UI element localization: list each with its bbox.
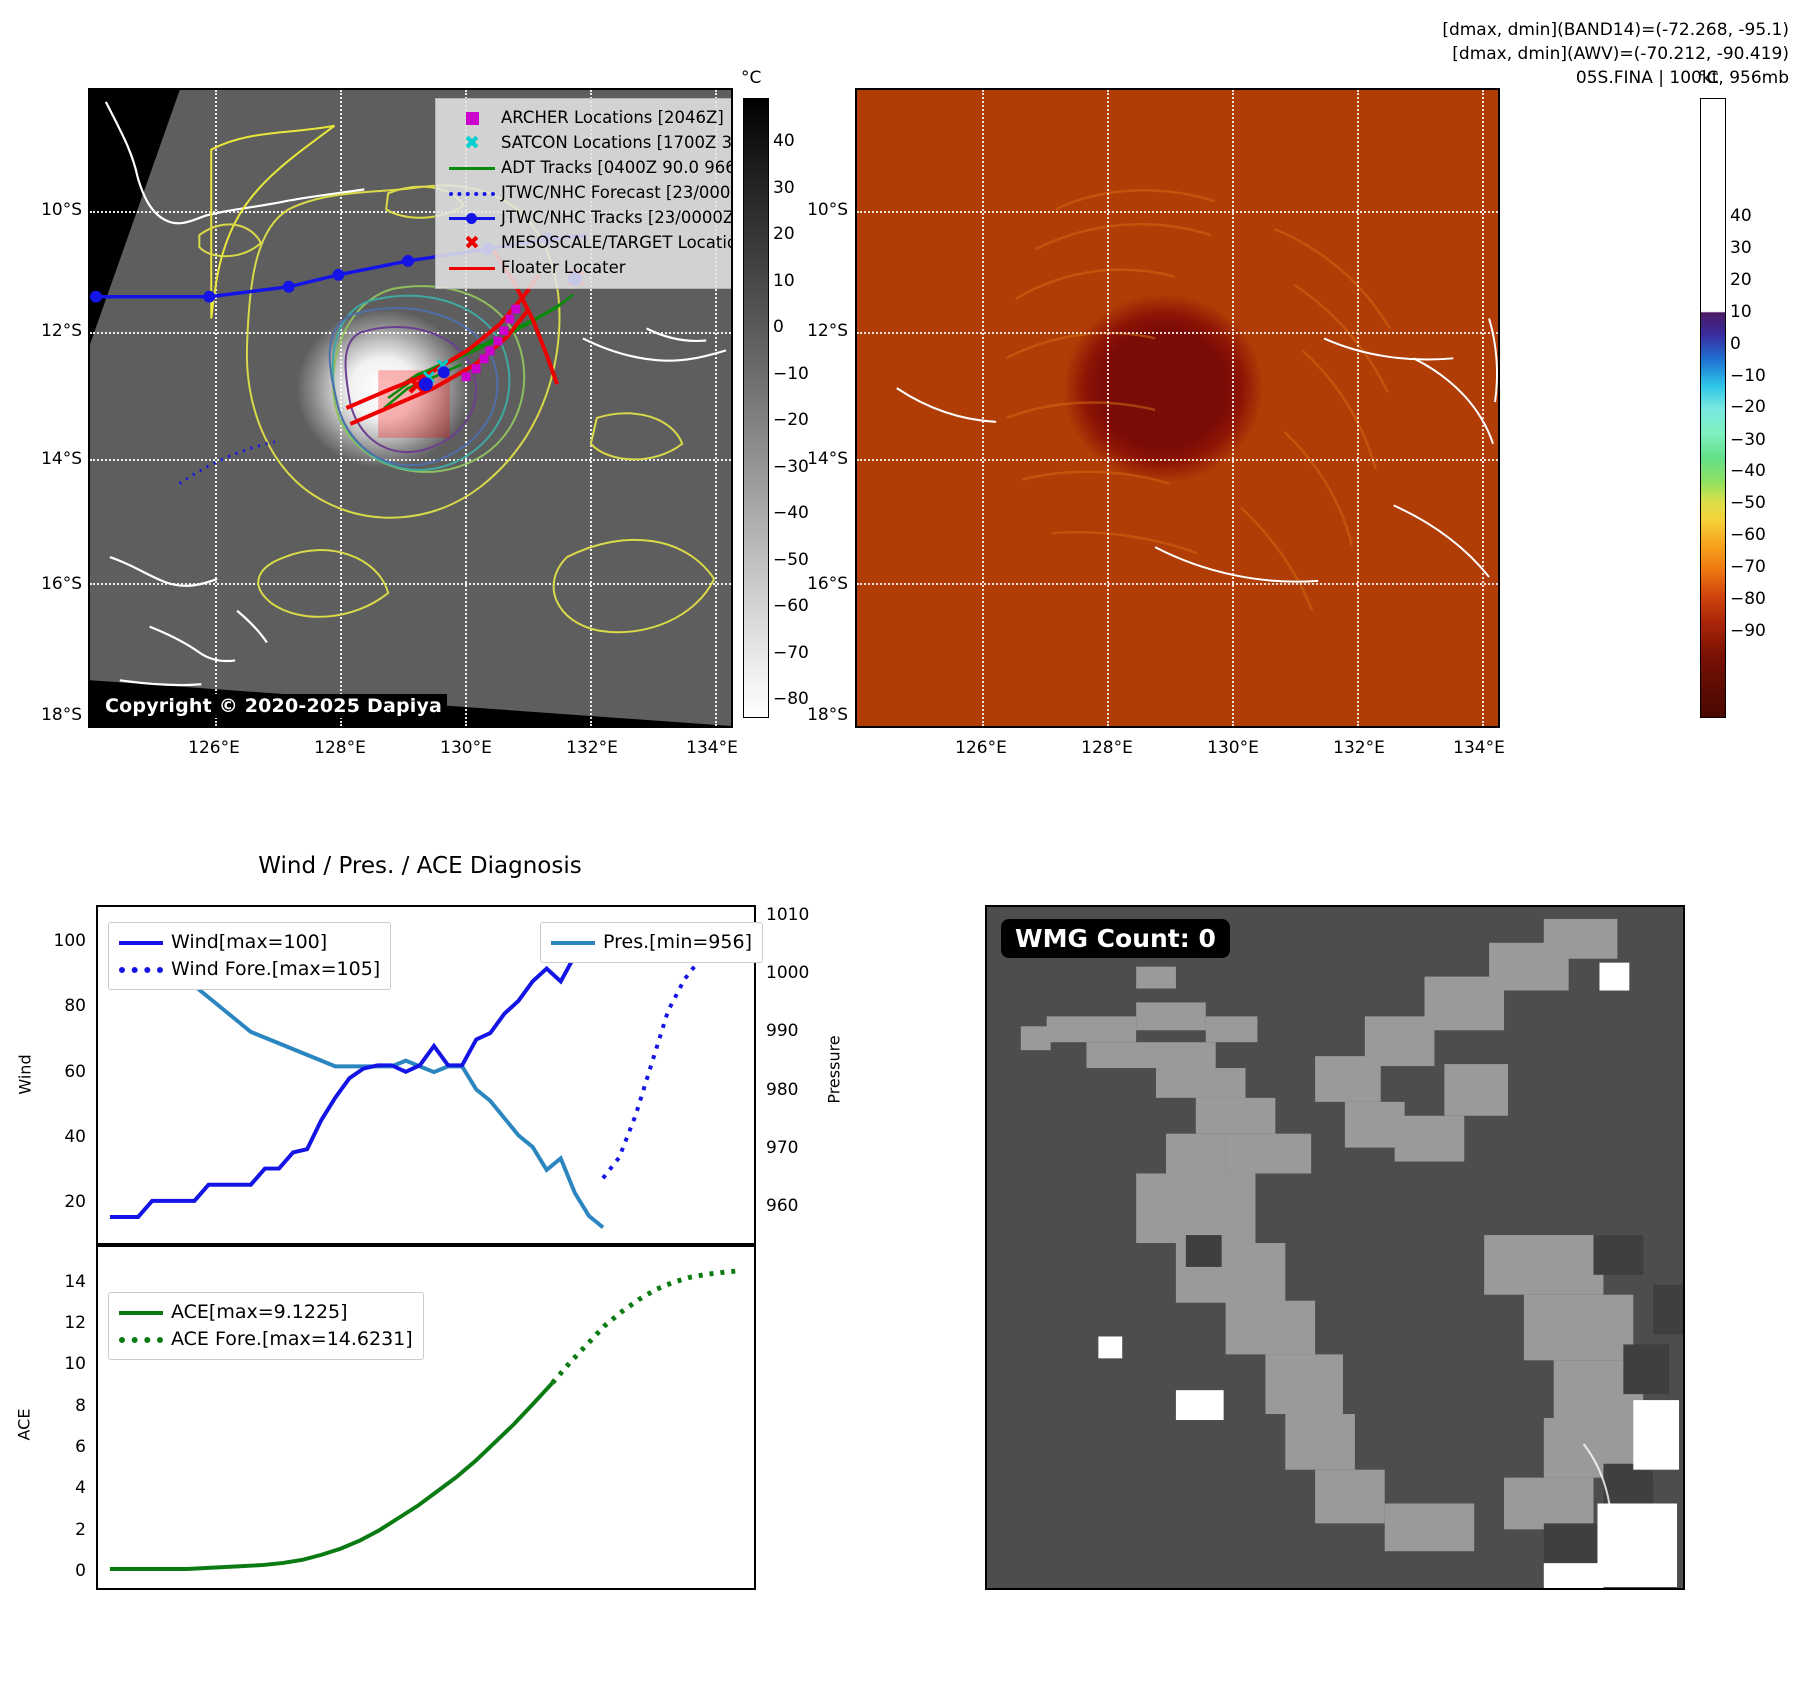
legend-item: ✖ MESOSCALE/TARGET Location xyxy=(443,231,733,256)
legend-label: Floater Locater xyxy=(501,260,626,277)
wmg-count-badge: WMG Count: 0 xyxy=(1001,919,1230,958)
ace-legend: ACE[max=9.1225] ACE Fore.[max=14.6231] xyxy=(108,1292,424,1360)
legend-item: Wind[max=100] xyxy=(119,929,380,956)
legend-item: Pres.[min=956] xyxy=(551,929,752,956)
floater-line-icon xyxy=(443,267,501,270)
jtwc-track-line-marker-icon xyxy=(443,217,501,220)
awv-colorbar-tick: −20 xyxy=(1730,397,1766,417)
wind-tick: 100 xyxy=(40,931,86,951)
legend-item: ACE Fore.[max=14.6231] xyxy=(119,1326,413,1353)
ir-lon-tick: 134°E xyxy=(686,738,738,758)
ace-tick: 10 xyxy=(44,1354,86,1374)
ir-colorbar-tick: −40 xyxy=(773,503,809,523)
legend-label: Pres.[min=956] xyxy=(603,929,752,957)
copyright-text: Copyright © 2020-2025 Dapiya xyxy=(100,694,447,718)
legend-label: ACE[max=9.1225] xyxy=(171,1299,348,1327)
awv-lat-tick: 18°S xyxy=(786,705,848,725)
awv-grid-line xyxy=(857,211,1498,213)
legend-item: ARCHER Locations [2046Z] xyxy=(443,106,733,131)
jtwc-forecast-dotted-icon xyxy=(443,192,501,196)
ace-tick: 0 xyxy=(44,1561,86,1581)
ace-tick: 8 xyxy=(44,1396,86,1416)
mesoscale-x-icon: ✖ xyxy=(443,234,501,253)
ir-colorbar-tick: −20 xyxy=(773,410,809,430)
ace-tick: 6 xyxy=(44,1437,86,1457)
ir-lat-tick: 12°S xyxy=(20,321,82,341)
ir-colorbar-tick: 20 xyxy=(773,224,795,244)
awv-colorbar-tick: 30 xyxy=(1730,238,1752,258)
ace-tick: 14 xyxy=(44,1272,86,1292)
ace-axis-label: ACE xyxy=(14,1409,33,1441)
wind-tick: 80 xyxy=(40,996,86,1016)
legend-label: ACE Fore.[max=14.6231] xyxy=(171,1326,413,1354)
legend-label: JTWC/NHC Forecast [23/0000Z] xyxy=(501,185,733,202)
awv-colorbar-tick: 0 xyxy=(1730,334,1741,354)
wind-line-icon xyxy=(119,941,171,945)
dmax-band14-text: [dmax, dmin](BAND14)=(-72.268, -95.1) xyxy=(1442,18,1789,42)
ir-lon-tick: 132°E xyxy=(566,738,618,758)
awv-grid-line xyxy=(1482,90,1484,726)
ir-lat-tick: 18°S xyxy=(20,705,82,725)
awv-colorbar-tick: 20 xyxy=(1730,270,1752,290)
storm-summary-text: 05S.FINA | 100kt, 956mb xyxy=(1442,66,1789,90)
wind-tick: 20 xyxy=(40,1192,86,1212)
awv-lon-tick: 130°E xyxy=(1207,738,1259,758)
pressure-axis-label: Pressure xyxy=(825,1035,844,1103)
awv-grid-line xyxy=(857,583,1498,585)
awv-colorbar-tick: 10 xyxy=(1730,302,1752,322)
adt-line-icon xyxy=(443,167,501,170)
legend-item: JTWC/NHC Tracks [23/0000Z] xyxy=(443,206,733,231)
awv-colorbar-tick: −40 xyxy=(1730,461,1766,481)
ace-tick: 4 xyxy=(44,1478,86,1498)
ace-forecast-dotted-icon xyxy=(119,1337,171,1343)
ir-colorbar-tick: −10 xyxy=(773,364,809,384)
wmg-mask-map xyxy=(987,907,1683,1588)
legend-item: Floater Locater xyxy=(443,256,733,281)
awv-colorbar-tick: −70 xyxy=(1730,557,1766,577)
ir-colorbar-tick: 30 xyxy=(773,178,795,198)
awv-grid-line xyxy=(857,332,1498,334)
legend-label: Wind Fore.[max=105] xyxy=(171,956,380,984)
awv-grid-line xyxy=(1357,90,1359,726)
awv-lon-tick: 134°E xyxy=(1453,738,1505,758)
ir-lat-tick: 16°S xyxy=(20,574,82,594)
awv-colorbar-tick: −90 xyxy=(1730,621,1766,641)
legend-item: JTWC/NHC Forecast [23/0000Z] xyxy=(443,181,733,206)
awv-grid-line xyxy=(1232,90,1234,726)
pressure-legend: Pres.[min=956] xyxy=(540,922,763,963)
ir-lat-tick: 10°S xyxy=(20,200,82,220)
legend-label: MESOSCALE/TARGET Location xyxy=(501,235,733,252)
awv-colorbar-tick: 40 xyxy=(1730,206,1752,226)
awv-colorbar-unit: °C xyxy=(1698,68,1718,88)
awv-lat-tick: 14°S xyxy=(786,449,848,469)
ir-colorbar-gradient xyxy=(743,98,769,718)
wmg-panel[interactable]: WMG Count: 0 xyxy=(985,905,1685,1590)
awv-colorbar-gradient xyxy=(1700,98,1726,718)
awv-lat-tick: 12°S xyxy=(786,321,848,341)
pressure-tick: 1000 xyxy=(766,963,809,983)
ir-colorbar-tick: −60 xyxy=(773,596,809,616)
ir-satellite-panel[interactable]: ARCHER Locations [2046Z] ✖ SATCON Locati… xyxy=(88,88,733,728)
ace-tick: 2 xyxy=(44,1520,86,1540)
ir-legend: ARCHER Locations [2046Z] ✖ SATCON Locati… xyxy=(435,98,733,289)
wind-forecast-dotted-icon xyxy=(119,967,171,973)
ir-colorbar-tick: 40 xyxy=(773,131,795,151)
legend-label: ARCHER Locations [2046Z] xyxy=(501,110,724,127)
ir-colorbar: °C 40 30 20 10 0 −10 −20 −30 −40 −50 −60… xyxy=(743,98,803,718)
pressure-tick: 990 xyxy=(766,1021,798,1041)
awv-lon-tick: 126°E xyxy=(955,738,1007,758)
awv-satellite-panel[interactable] xyxy=(855,88,1500,728)
awv-colorbar-tick: −10 xyxy=(1730,366,1766,386)
pressure-tick: 970 xyxy=(766,1138,798,1158)
wind-axis-label: Wind xyxy=(16,1054,35,1094)
legend-item: ✖ SATCON Locations [1700Z 38 1000] xyxy=(443,131,733,156)
archer-square-icon xyxy=(443,112,501,125)
ir-lon-tick: 128°E xyxy=(314,738,366,758)
awv-lon-tick: 128°E xyxy=(1081,738,1133,758)
pressure-tick: 960 xyxy=(766,1196,798,1216)
awv-colorbar-tick: −50 xyxy=(1730,493,1766,513)
metadata-block: [dmax, dmin](BAND14)=(-72.268, -95.1) [d… xyxy=(1442,18,1789,90)
legend-item: Wind Fore.[max=105] xyxy=(119,956,380,983)
ir-colorbar-tick: −70 xyxy=(773,643,809,663)
legend-item: ADT Tracks [0400Z 90.0 966.0] xyxy=(443,156,733,181)
awv-colorbar-tick: −30 xyxy=(1730,430,1766,450)
ace-line-icon xyxy=(119,1311,171,1315)
wind-tick: 60 xyxy=(40,1062,86,1082)
awv-colorbar-tick: −60 xyxy=(1730,525,1766,545)
awv-grid-line xyxy=(1107,90,1109,726)
satcon-x-icon: ✖ xyxy=(443,134,501,153)
awv-texture xyxy=(857,90,1498,726)
awv-colorbar: °C 40 30 20 10 0 −10 −20 −30 −40 −50 −60… xyxy=(1700,98,1760,718)
dmax-awv-text: [dmax, dmin](AWV)=(-70.212, -90.419) xyxy=(1442,42,1789,66)
ir-colorbar-unit: °C xyxy=(741,68,761,88)
pressure-line-icon xyxy=(551,941,603,945)
ir-lon-tick: 126°E xyxy=(188,738,240,758)
awv-lat-tick: 10°S xyxy=(786,200,848,220)
legend-label: Wind[max=100] xyxy=(171,929,327,957)
awv-lon-tick: 132°E xyxy=(1333,738,1385,758)
ir-lat-tick: 14°S xyxy=(20,449,82,469)
awv-grid-line xyxy=(982,90,984,726)
legend-label: JTWC/NHC Tracks [23/0000Z] xyxy=(501,210,733,227)
legend-item: ACE[max=9.1225] xyxy=(119,1299,413,1326)
legend-label: ADT Tracks [0400Z 90.0 966.0] xyxy=(501,160,733,177)
ir-colorbar-tick: 0 xyxy=(773,317,784,337)
ir-lon-tick: 130°E xyxy=(440,738,492,758)
wind-legend: Wind[max=100] Wind Fore.[max=105] xyxy=(108,922,391,990)
pressure-tick: 980 xyxy=(766,1080,798,1100)
wind-tick: 40 xyxy=(40,1127,86,1147)
awv-colorbar-tick: −80 xyxy=(1730,589,1766,609)
ace-tick: 12 xyxy=(44,1313,86,1333)
diagnosis-title: Wind / Pres. / ACE Diagnosis xyxy=(258,853,581,879)
legend-label: SATCON Locations [1700Z 38 1000] xyxy=(501,135,733,152)
ir-colorbar-tick: 10 xyxy=(773,271,795,291)
pressure-tick: 1010 xyxy=(766,905,809,925)
ir-colorbar-tick: −50 xyxy=(773,550,809,570)
awv-grid-line xyxy=(857,459,1498,461)
awv-lat-tick: 16°S xyxy=(786,574,848,594)
